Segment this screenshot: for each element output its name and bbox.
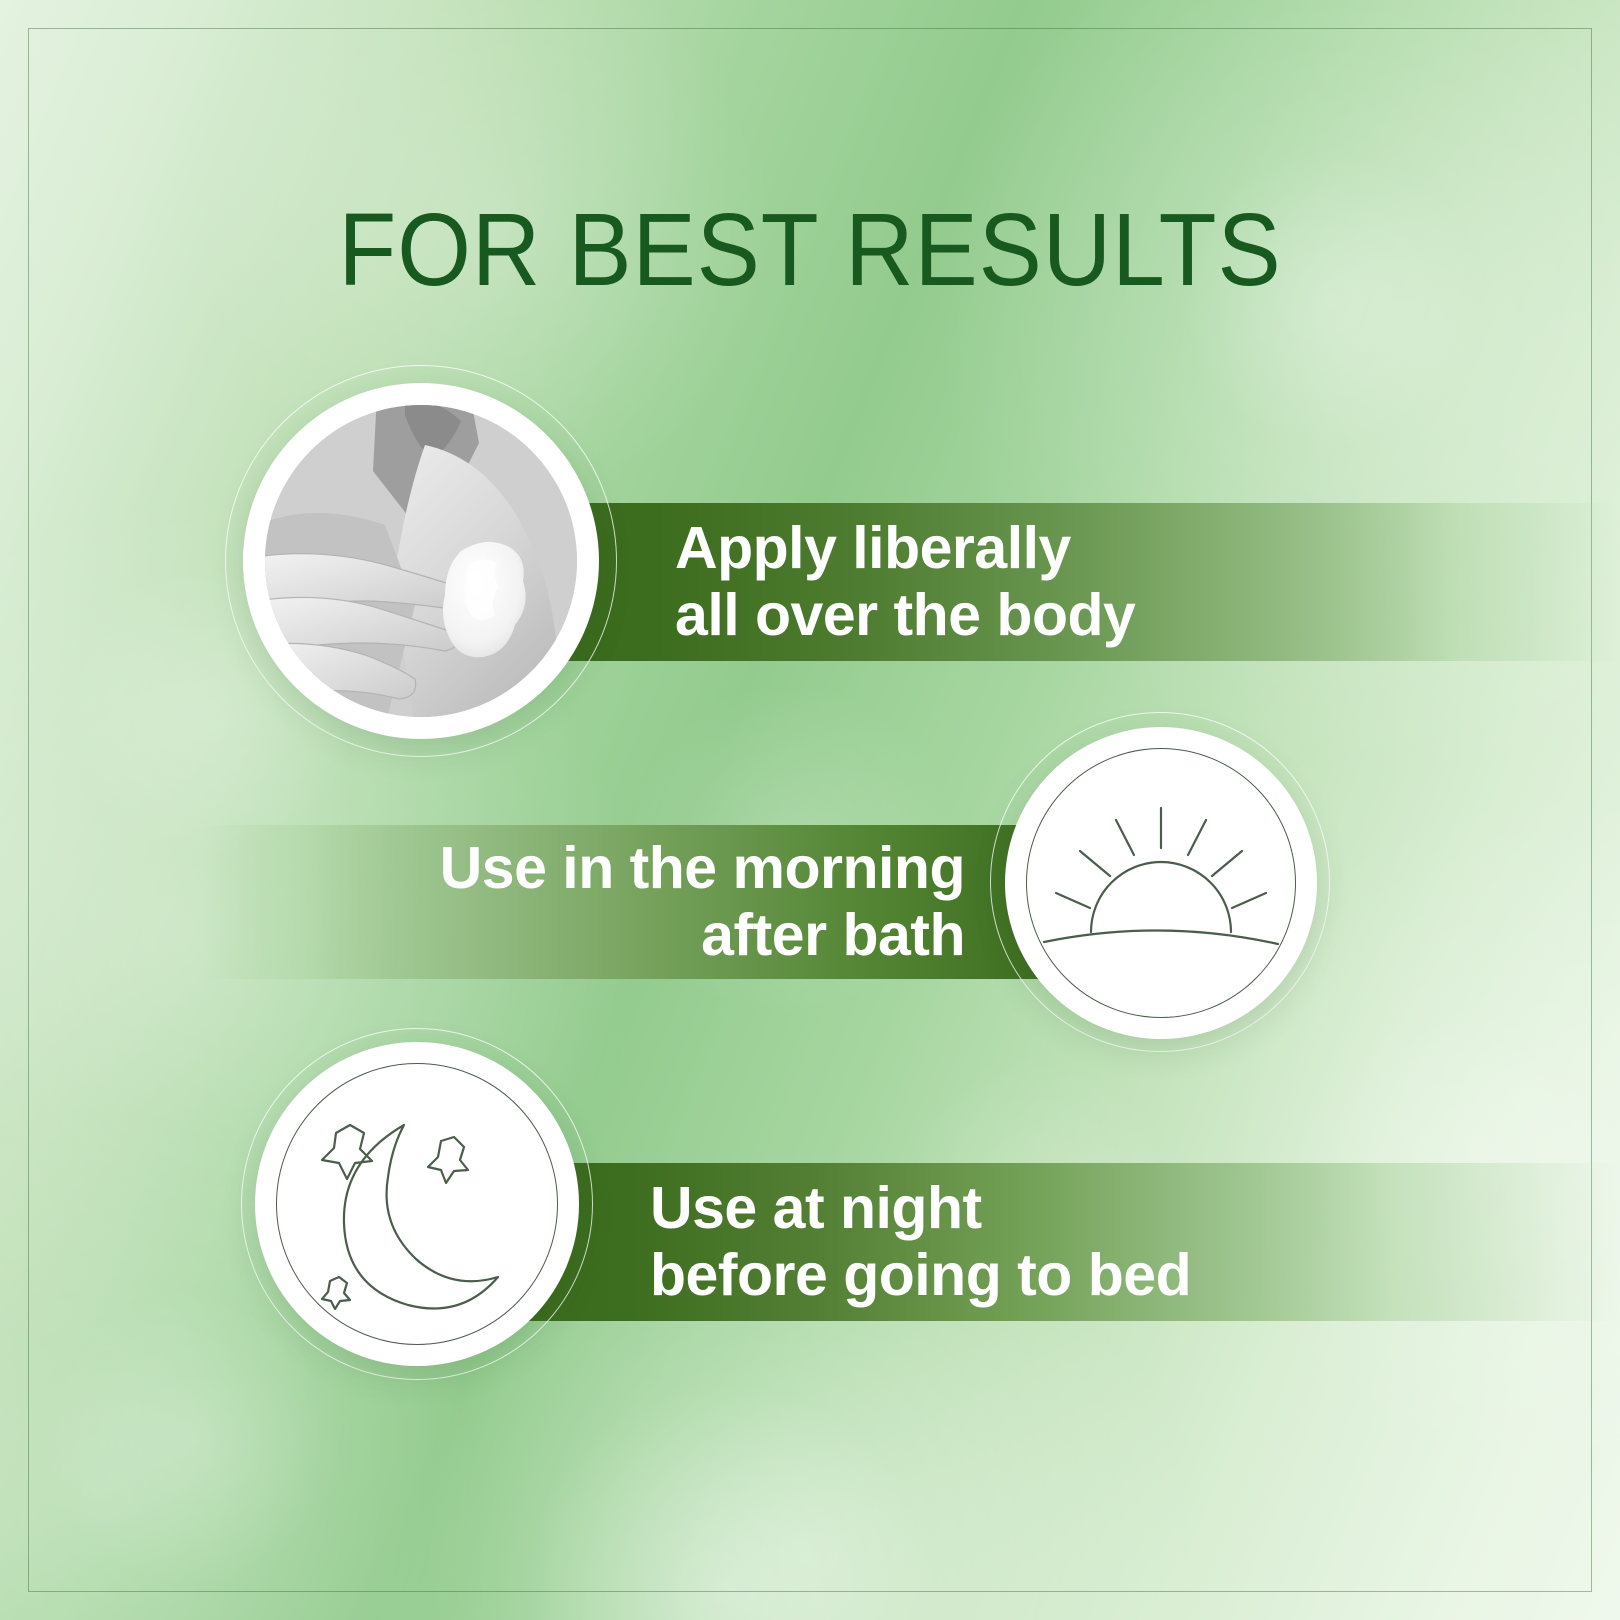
bokeh-blob <box>520 1380 940 1620</box>
step-text-apply: Apply liberally all over the body <box>675 515 1135 650</box>
photo-applying-cream <box>265 405 577 717</box>
step-text-night: Use at night before going to bed <box>650 1175 1191 1310</box>
poster-canvas: FOR BEST RESULTS Apply liberally all ove… <box>0 0 1620 1620</box>
page-title: FOR BEST RESULTS <box>65 195 1555 304</box>
step-banner-night: Use at night before going to bed <box>470 1163 1620 1321</box>
step-banner-apply: Apply liberally all over the body <box>470 503 1620 661</box>
sunrise-icon <box>1026 748 1296 1018</box>
moon-stars-icon <box>276 1063 558 1345</box>
step-text-morning: Use in the morning after bath <box>440 835 965 970</box>
